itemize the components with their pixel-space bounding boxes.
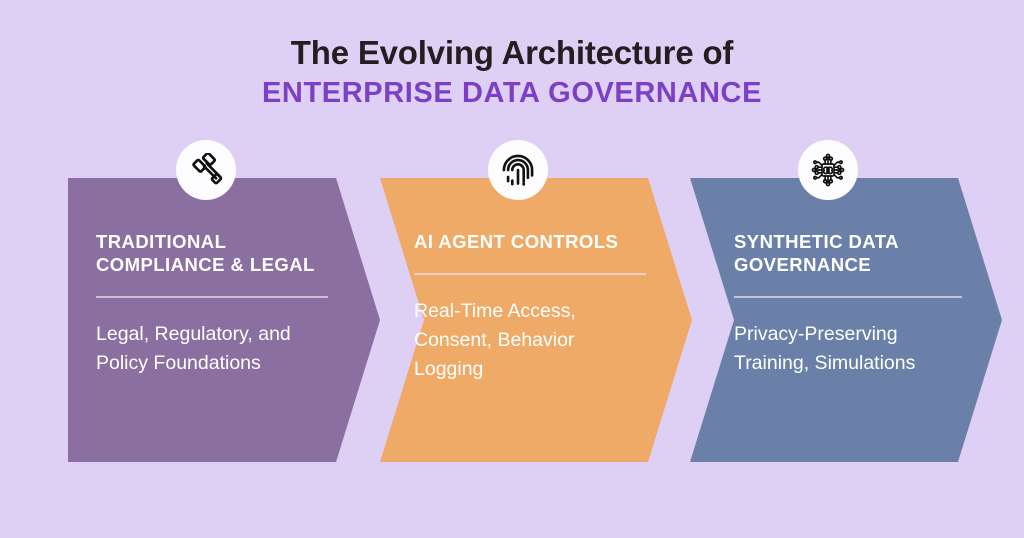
process-flow-diagram: TRADITIONAL COMPLIANCE & LEGAL Legal, Re… [0, 178, 1024, 462]
page-title-primary: The Evolving Architecture of [0, 34, 1024, 73]
fingerprint-icon [500, 152, 536, 188]
stage-content: AI AGENT CONTROLS Real-Time Access, Cons… [380, 178, 652, 462]
gavel-icon [189, 153, 223, 187]
ai-chip-brain-icon [809, 151, 847, 189]
stage-title: AI AGENT CONTROLS [414, 230, 642, 253]
stage-description: Privacy-Preserving Training, Simulations [734, 320, 952, 378]
flow-stage-ai-agent-controls[interactable]: AI AGENT CONTROLS Real-Time Access, Cons… [380, 178, 692, 462]
stage-content: SYNTHETIC DATA GOVERNANCE Privacy-Preser… [690, 178, 962, 462]
stage-description: Real-Time Access, Consent, Behavior Logg… [414, 297, 642, 384]
stage-content: TRADITIONAL COMPLIANCE & LEGAL Legal, Re… [68, 178, 336, 462]
stage-title: TRADITIONAL COMPLIANCE & LEGAL [96, 230, 326, 276]
stage-icon-badge-3 [798, 140, 858, 200]
page-header: The Evolving Architecture of ENTERPRISE … [0, 34, 1024, 113]
stage-divider [96, 296, 328, 298]
stage-icon-badge-1 [176, 140, 236, 200]
flow-stage-traditional-compliance[interactable]: TRADITIONAL COMPLIANCE & LEGAL Legal, Re… [68, 178, 380, 462]
stage-description: Legal, Regulatory, and Policy Foundation… [96, 320, 326, 378]
stage-icon-badge-2 [488, 140, 548, 200]
stage-title: SYNTHETIC DATA GOVERNANCE [734, 230, 952, 276]
stage-divider [734, 296, 962, 298]
page-title-accent: ENTERPRISE DATA GOVERNANCE [0, 75, 1024, 113]
flow-stage-synthetic-data-governance[interactable]: SYNTHETIC DATA GOVERNANCE Privacy-Preser… [690, 178, 1002, 462]
stage-divider [414, 273, 646, 275]
